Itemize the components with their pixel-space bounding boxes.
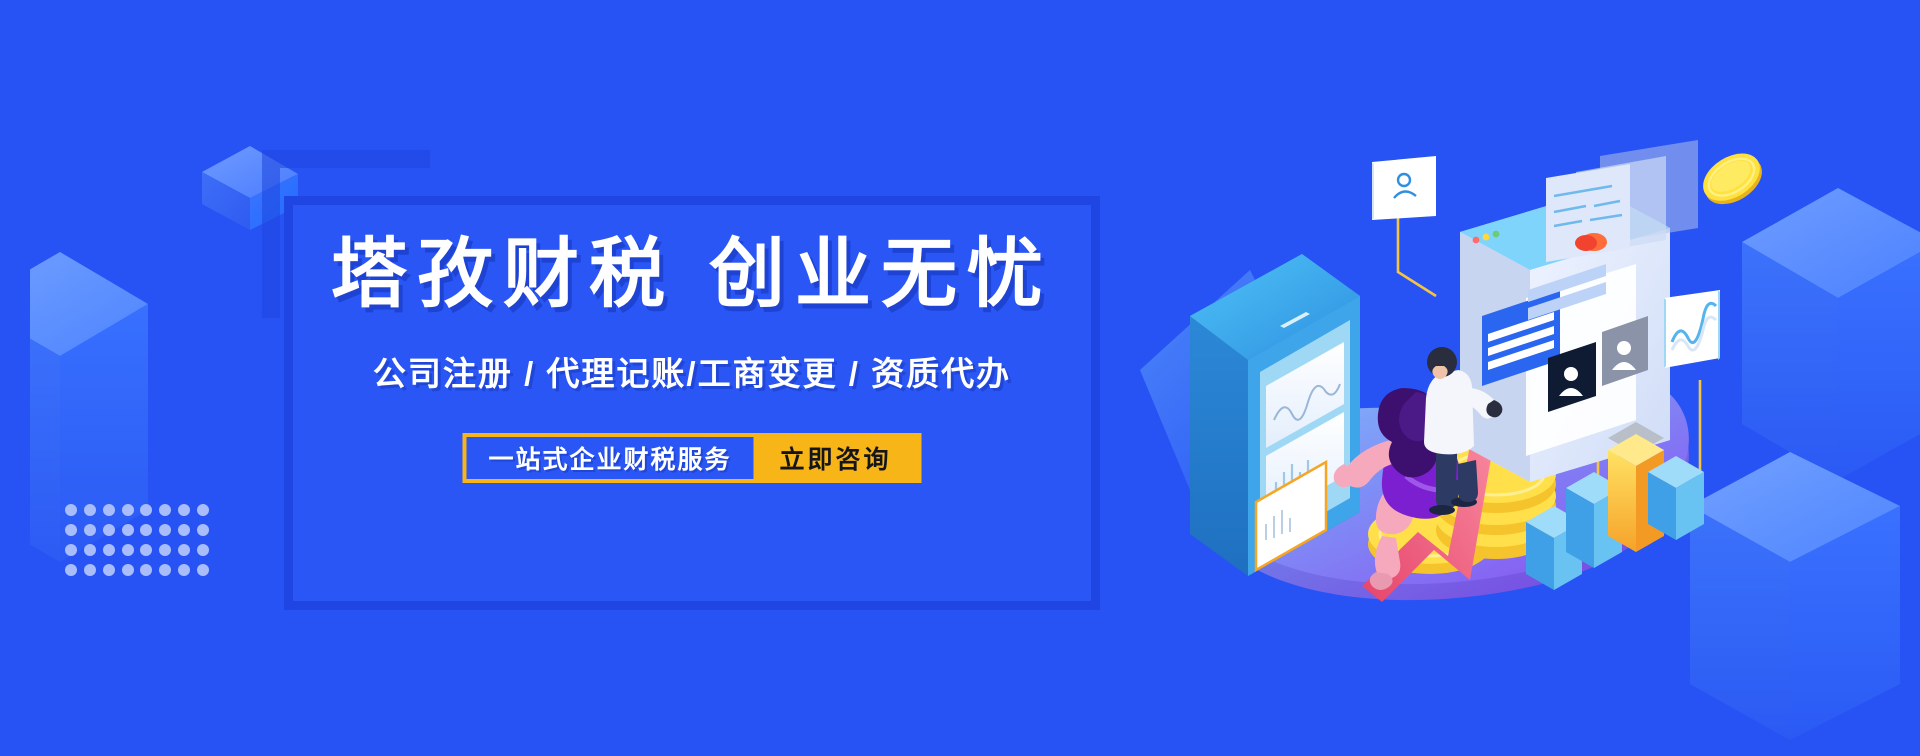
service-list: 公司注册 / 代理记账/工商变更 / 资质代办 bbox=[293, 357, 1091, 390]
page-title: 塔孜财税创业无忧 bbox=[293, 237, 1091, 313]
cta-group[interactable]: 一站式企业财税服务 立即咨询 bbox=[462, 433, 921, 483]
cta-tag-label: 一站式企业财税服务 bbox=[466, 437, 753, 479]
headline-brand: 塔孜财税 bbox=[331, 232, 675, 317]
illustration-isometric-fintech bbox=[1130, 120, 1750, 640]
content-frame: 塔孜财税创业无忧 公司注册 / 代理记账/工商变更 / 资质代办 一站式企业财税… bbox=[284, 196, 1100, 610]
promo-banner: 塔孜财税创业无忧 公司注册 / 代理记账/工商变更 / 资质代办 一站式企业财税… bbox=[0, 0, 1920, 756]
dot-grid bbox=[62, 500, 212, 580]
headline-tagline: 创业无忧 bbox=[709, 232, 1053, 317]
credit-card-icon bbox=[1546, 140, 1698, 262]
cube-left-icon bbox=[30, 232, 260, 562]
cube-right-tall-icon bbox=[1742, 180, 1920, 510]
line-chart-card-icon bbox=[1664, 290, 1720, 368]
contact-card-icon bbox=[1372, 156, 1436, 220]
consult-now-button[interactable]: 立即咨询 bbox=[754, 437, 918, 479]
